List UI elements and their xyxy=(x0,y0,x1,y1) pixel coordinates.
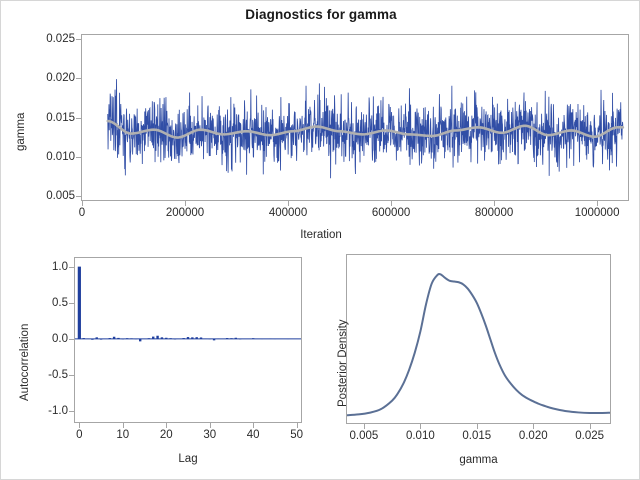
trace-x-tick-mark xyxy=(391,201,392,206)
density-svg xyxy=(347,255,610,423)
acf-x-tick-mark xyxy=(253,423,254,428)
trace-x-tick-label: 200000 xyxy=(166,207,204,219)
density-curve xyxy=(347,274,610,415)
density-x-tick-mark xyxy=(477,424,478,429)
trace-y-tick-mark xyxy=(76,196,81,197)
trace-x-tick-label: 0 xyxy=(79,207,85,219)
trace-x-tick-label: 400000 xyxy=(269,207,307,219)
trace-y-tick-mark xyxy=(76,118,81,119)
diagnostics-figure: Diagnostics for gamma gamma Iteration 0.… xyxy=(0,0,640,480)
density-x-tick-label: 0.005 xyxy=(350,430,379,442)
acf-y-tick-mark xyxy=(69,267,74,268)
trace-x-axis-title: Iteration xyxy=(1,229,640,241)
acf-x-tick-label: 0 xyxy=(76,429,82,441)
trace-y-tick-mark xyxy=(76,39,81,40)
trace-x-tick-label: 1000000 xyxy=(575,207,620,219)
density-x-tick-mark xyxy=(533,424,534,429)
acf-y-tick-mark xyxy=(69,303,74,304)
acf-y-tick-mark xyxy=(69,339,74,340)
acf-x-tick-label: 20 xyxy=(160,429,173,441)
trace-y-tick-label: 0.025 xyxy=(33,33,75,45)
figure-title: Diagnostics for gamma xyxy=(1,7,640,22)
trace-x-tick-mark xyxy=(185,201,186,206)
acf-x-tick-label: 10 xyxy=(116,429,129,441)
trace-line xyxy=(108,79,623,178)
acf-y-tick-label: 0.5 xyxy=(30,297,68,309)
trace-y-axis-title: gamma xyxy=(15,113,27,151)
acf-x-tick-mark xyxy=(210,423,211,428)
acf-x-tick-label: 30 xyxy=(203,429,216,441)
trace-x-tick-mark xyxy=(597,201,598,206)
density-x-tick-label: 0.015 xyxy=(462,430,491,442)
trace-x-tick-label: 600000 xyxy=(372,207,410,219)
density-x-tick-mark xyxy=(590,424,591,429)
density-x-tick-mark xyxy=(364,424,365,429)
density-plot-area xyxy=(346,254,611,424)
density-y-axis-title: Posterior Density xyxy=(337,319,349,407)
density-x-tick-label: 0.010 xyxy=(406,430,435,442)
acf-svg xyxy=(75,258,301,422)
trace-x-tick-label: 800000 xyxy=(475,207,513,219)
trace-y-tick-label: 0.015 xyxy=(33,112,75,124)
acf-x-tick-mark xyxy=(166,423,167,428)
trace-x-tick-mark xyxy=(494,201,495,206)
trace-y-tick-mark xyxy=(76,78,81,79)
acf-y-tick-label: 1.0 xyxy=(30,261,68,273)
acf-y-tick-label: 0.0 xyxy=(30,333,68,345)
density-x-tick-label: 0.025 xyxy=(575,430,604,442)
trace-plot-area xyxy=(81,34,629,201)
trace-svg xyxy=(82,35,628,200)
acf-y-tick-label: -1.0 xyxy=(30,405,68,417)
acf-y-tick-mark xyxy=(69,375,74,376)
trace-y-tick-label: 0.020 xyxy=(33,72,75,84)
acf-stems xyxy=(79,267,296,342)
acf-x-tick-mark xyxy=(123,423,124,428)
acf-x-tick-label: 40 xyxy=(247,429,260,441)
acf-x-tick-mark xyxy=(297,423,298,428)
trace-x-tick-mark xyxy=(288,201,289,206)
acf-plot-area xyxy=(74,257,302,423)
trace-y-tick-label: 0.005 xyxy=(33,190,75,202)
acf-x-tick-label: 50 xyxy=(290,429,303,441)
acf-x-tick-mark xyxy=(79,423,80,428)
acf-y-tick-label: -0.5 xyxy=(30,369,68,381)
trace-x-tick-mark xyxy=(82,201,83,206)
trace-y-tick-mark xyxy=(76,157,81,158)
density-x-axis-title: gamma xyxy=(346,454,611,466)
trace-y-tick-label: 0.010 xyxy=(33,151,75,163)
density-x-tick-mark xyxy=(420,424,421,429)
density-x-tick-label: 0.020 xyxy=(519,430,548,442)
acf-y-tick-mark xyxy=(69,411,74,412)
acf-x-axis-title: Lag xyxy=(74,453,302,465)
